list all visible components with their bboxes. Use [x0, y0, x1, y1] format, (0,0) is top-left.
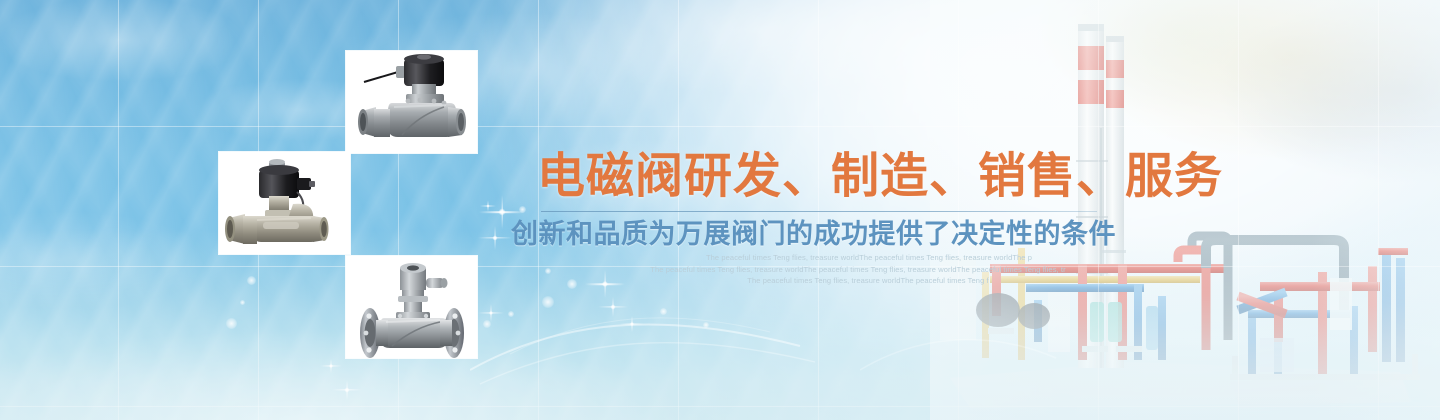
- blurb-line-1: The peaceful times Teng flies, treasure …: [658, 252, 1080, 264]
- banner-blurb-text: The peaceful times Teng flies, treasure …: [650, 252, 1080, 287]
- product-tile-solenoid-valve-brass-body[interactable]: [219, 152, 350, 254]
- headline-divider: [541, 211, 1097, 212]
- hero-banner: 电磁阀研发、制造、销售、服务 创新和品质为万展阀门的成功提供了决定性的条件 Th…: [0, 0, 1440, 420]
- blurb-line-3: The peaceful times Teng flies, treasure …: [656, 275, 1080, 287]
- banner-subheadline: 创新和品质为万展阀门的成功提供了决定性的条件: [511, 221, 1116, 248]
- product-tile-solenoid-valve-threaded-inline[interactable]: [346, 51, 477, 153]
- blurb-line-2: The peaceful times Teng flies, treasure …: [636, 264, 1080, 276]
- banner-headline: 电磁阀研发、制造、销售、服务: [537, 152, 1223, 200]
- product-tile-solenoid-valve-flanged[interactable]: [346, 256, 477, 358]
